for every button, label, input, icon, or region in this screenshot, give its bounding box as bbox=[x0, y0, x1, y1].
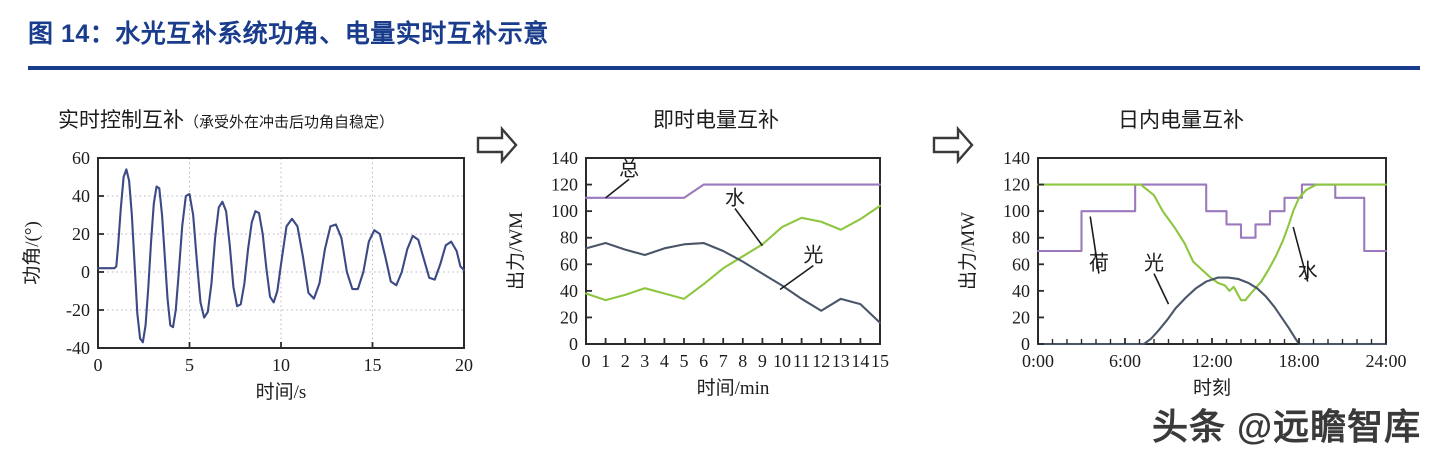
y-tick-label: 80 bbox=[1012, 228, 1030, 248]
chart-1-canvas: -40-20020406005101520时间/s功角/(°) bbox=[16, 96, 486, 426]
annotation-leader bbox=[735, 209, 762, 246]
series-line-2 bbox=[1038, 185, 1386, 301]
y-tick-label: 20 bbox=[72, 224, 90, 244]
chart-2-canvas: 0204060801001201400123456789101112131415… bbox=[506, 96, 926, 426]
title-divider bbox=[28, 66, 1420, 70]
y-tick-label: 60 bbox=[1012, 254, 1030, 274]
y-tick-label: 120 bbox=[551, 175, 578, 195]
x-tick-label: 5 bbox=[680, 351, 689, 371]
y-tick-label: 120 bbox=[1003, 175, 1030, 195]
annotation-label: 水 bbox=[1298, 260, 1318, 283]
x-tick-label: 10 bbox=[773, 351, 791, 371]
x-tick-label: 15 bbox=[871, 351, 889, 371]
x-tick-label: 12:00 bbox=[1191, 351, 1232, 371]
x-tick-label: 15 bbox=[364, 355, 382, 375]
x-tick-label: 5 bbox=[185, 355, 194, 375]
x-tick-label: 20 bbox=[455, 355, 473, 375]
chart-panel-realtime-control: 实时控制互补（承受外在冲击后功角自稳定） -40-200204060051015… bbox=[16, 96, 486, 426]
y-tick-label: 40 bbox=[1012, 281, 1030, 301]
x-tick-label: 12 bbox=[812, 351, 830, 371]
x-tick-label: 14 bbox=[851, 351, 869, 371]
x-tick-label: 4 bbox=[660, 351, 669, 371]
y-tick-label: -40 bbox=[66, 338, 90, 358]
x-tick-label: 24:00 bbox=[1365, 351, 1406, 371]
x-tick-label: 11 bbox=[793, 351, 810, 371]
y-axis-label: 出力/WM bbox=[506, 212, 527, 290]
chart-panel-intraday-energy: 日内电量互补 0204060801001201400:006:0012:0018… bbox=[946, 96, 1416, 426]
chart-3-canvas: 0204060801001201400:006:0012:0018:0024:0… bbox=[946, 96, 1416, 426]
page-title: 图 14：水光互补系统功角、电量实时互补示意 bbox=[28, 14, 549, 50]
x-tick-label: 8 bbox=[738, 351, 747, 371]
x-tick-label: 6:00 bbox=[1109, 351, 1141, 371]
plot-frame bbox=[1038, 158, 1386, 344]
y-tick-label: -20 bbox=[66, 300, 90, 320]
y-tick-label: 100 bbox=[1003, 201, 1030, 221]
x-axis-label: 时间/s bbox=[256, 381, 307, 403]
watermark-text: 头条 @远瞻智库 bbox=[1152, 398, 1421, 450]
y-tick-label: 20 bbox=[560, 307, 578, 327]
x-tick-label: 9 bbox=[758, 351, 767, 371]
y-axis-label: 出力/MW bbox=[957, 212, 979, 290]
chart-panel-instant-energy: 即时电量互补 020406080100120140012345678910111… bbox=[506, 96, 926, 426]
y-axis-label: 功角/(°) bbox=[21, 221, 43, 285]
x-tick-label: 13 bbox=[832, 351, 850, 371]
annotation-leader bbox=[780, 266, 813, 290]
y-tick-label: 0 bbox=[81, 262, 90, 282]
annotation-leader bbox=[606, 179, 630, 198]
x-tick-label: 6 bbox=[699, 351, 708, 371]
y-tick-label: 40 bbox=[72, 186, 90, 206]
y-tick-label: 40 bbox=[560, 281, 578, 301]
x-axis-label: 时间/min bbox=[697, 377, 770, 399]
y-tick-label: 140 bbox=[551, 148, 578, 168]
x-tick-label: 3 bbox=[640, 351, 649, 371]
x-tick-label: 0 bbox=[582, 351, 591, 371]
series-line-3 bbox=[586, 243, 880, 323]
x-axis-label: 时刻 bbox=[1193, 377, 1231, 399]
x-tick-label: 10 bbox=[272, 355, 290, 375]
annotation-label: 荷 bbox=[1089, 252, 1109, 275]
annotation-label: 光 bbox=[803, 244, 823, 267]
annotation-label: 光 bbox=[1144, 252, 1164, 275]
y-tick-label: 60 bbox=[72, 148, 90, 168]
x-tick-label: 0:00 bbox=[1022, 351, 1054, 371]
y-tick-label: 100 bbox=[551, 201, 578, 221]
figure-header: 图 14：水光互补系统功角、电量实时互补示意 bbox=[0, 0, 1444, 78]
x-tick-label: 2 bbox=[621, 351, 630, 371]
x-tick-label: 1 bbox=[601, 351, 610, 371]
series-line-2 bbox=[586, 206, 880, 300]
y-tick-label: 80 bbox=[560, 228, 578, 248]
y-tick-label: 60 bbox=[560, 254, 578, 274]
annotation-label: 总 bbox=[619, 157, 639, 180]
series-line-3 bbox=[1038, 278, 1386, 344]
x-tick-label: 18:00 bbox=[1278, 351, 1319, 371]
y-tick-label: 140 bbox=[1003, 148, 1030, 168]
y-tick-label: 20 bbox=[1012, 307, 1030, 327]
x-tick-label: 0 bbox=[94, 355, 103, 375]
annotation-leader bbox=[1154, 274, 1169, 305]
y-tick-label: 0 bbox=[569, 334, 578, 354]
annotation-label: 水 bbox=[725, 187, 745, 210]
x-tick-label: 7 bbox=[719, 351, 728, 371]
